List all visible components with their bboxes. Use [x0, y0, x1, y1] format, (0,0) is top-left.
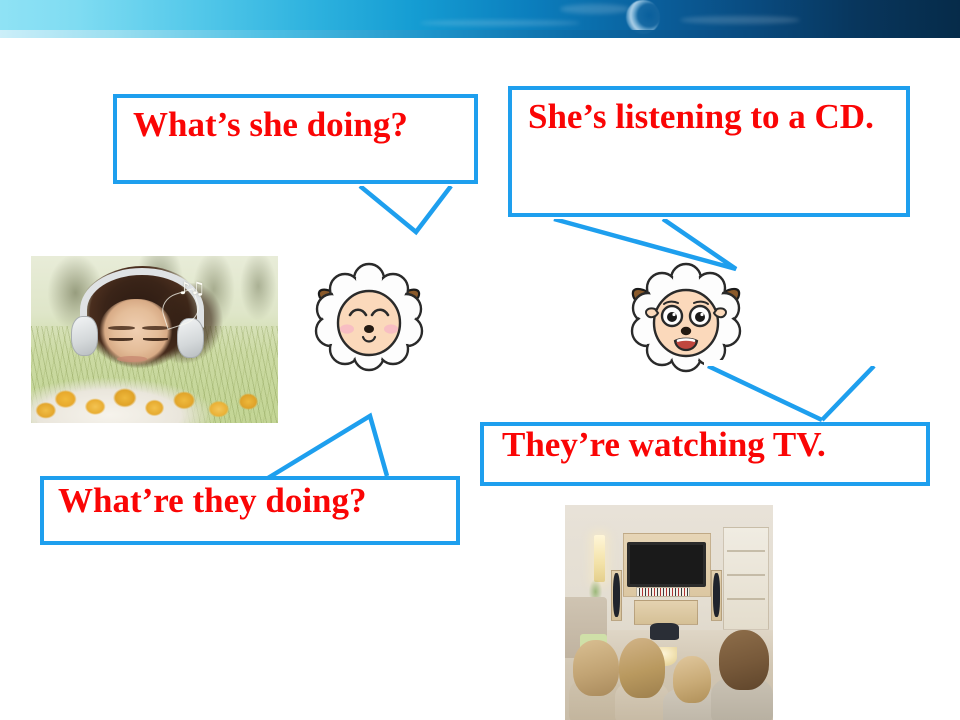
speaker-left	[611, 570, 622, 622]
sheep-left	[305, 257, 433, 385]
photo-family-tv	[565, 505, 773, 720]
cloud-wisp	[560, 4, 630, 14]
sky-banner-highlight	[0, 30, 960, 38]
speech-bubble-answer-they[interactable]: They’re watching TV.	[480, 422, 930, 486]
bubble-tail-question-she	[113, 180, 483, 250]
person-head-2	[619, 638, 665, 698]
tv-console	[634, 600, 698, 626]
speaker-right	[711, 570, 722, 622]
shelving-cabinet	[723, 527, 769, 630]
pupil-left	[667, 312, 677, 322]
cheek-left	[340, 324, 354, 333]
nose	[364, 325, 374, 333]
media-rack	[636, 587, 690, 598]
bubble-text-question-she: What’s she doing?	[133, 106, 473, 144]
shelf	[727, 550, 766, 552]
speech-bubble-question-she[interactable]: What’s she doing?	[113, 94, 478, 184]
person-head-3	[673, 656, 710, 703]
shelf	[727, 574, 766, 576]
person-head-1	[573, 640, 619, 696]
speech-bubble-question-they[interactable]: What’re they doing?	[40, 476, 460, 545]
cloud-wisp	[680, 16, 800, 24]
slide-canvas: What’s she doing? She’s listening to a C…	[0, 0, 960, 720]
speaker-cone	[613, 573, 620, 617]
flower-row	[31, 360, 278, 423]
cheek-right	[384, 324, 398, 333]
sheep-right	[620, 257, 752, 389]
pupil-right	[695, 312, 705, 322]
eye-right-closed	[143, 338, 168, 341]
eye-left-closed	[109, 338, 134, 341]
bubble-text-question-they: What’re they doing?	[58, 482, 453, 520]
subwoofer	[650, 623, 679, 640]
tv-picture	[632, 547, 701, 582]
speaker-cone	[713, 573, 720, 617]
person-head-4	[719, 630, 769, 690]
speech-bubble-answer-she[interactable]: She’s listening to a CD.	[508, 86, 910, 217]
cloud-wisp	[420, 20, 580, 26]
headphone-cup-left	[71, 316, 98, 356]
bubble-text-answer-she: She’s listening to a CD.	[528, 98, 878, 136]
floor-lamp	[594, 535, 604, 582]
photo-woman-headphones: ♪♫	[31, 256, 278, 423]
music-note-icon: ♪♫	[179, 279, 205, 299]
sheep-face	[338, 291, 400, 355]
moon-icon	[626, 0, 660, 34]
nose	[681, 327, 691, 335]
television-screen	[627, 542, 706, 587]
bubble-text-answer-they: They’re watching TV.	[502, 426, 922, 464]
shelf	[727, 598, 766, 600]
